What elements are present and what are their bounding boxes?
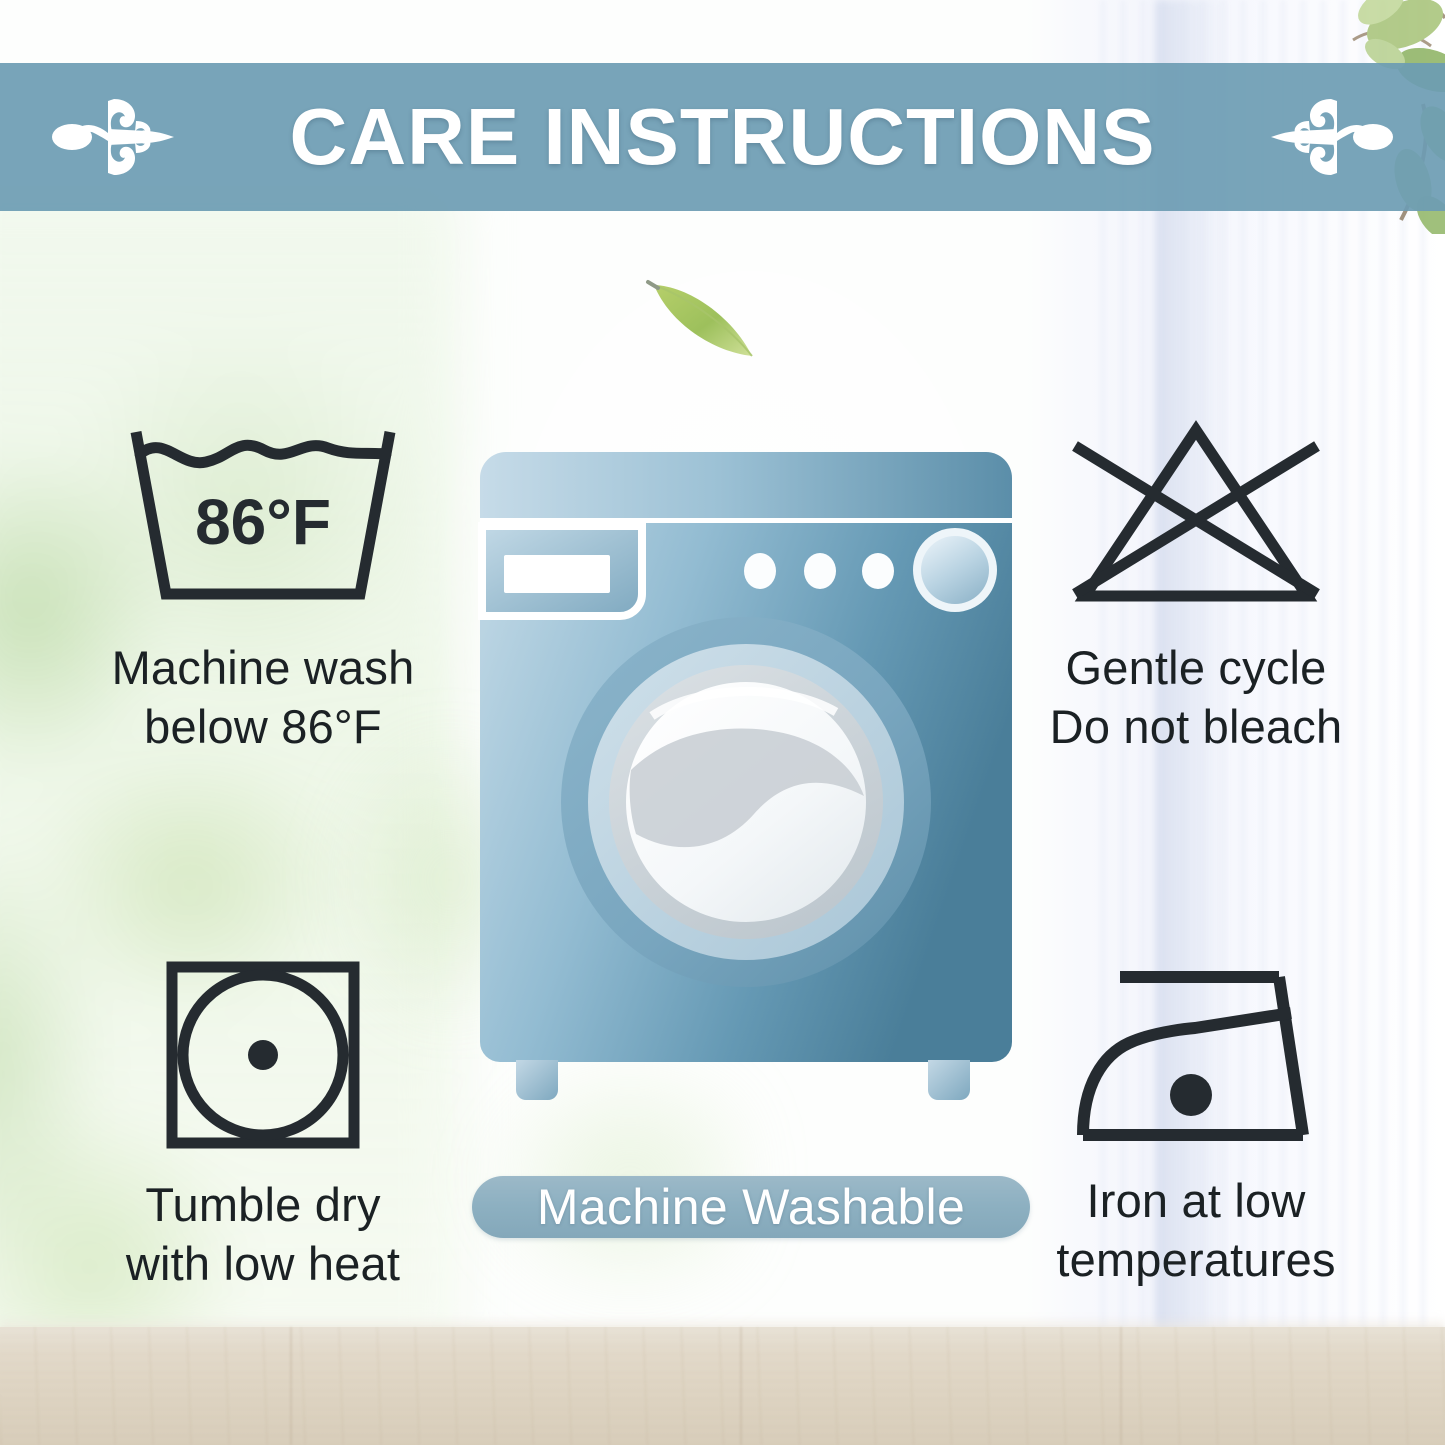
care-item-tumble-dry: Tumble dry with low heat [28,955,498,1293]
badge-label: Machine Washable [537,1178,965,1236]
iron-caption: Iron at low temperatures [1056,1171,1335,1289]
indicator-light [744,553,776,589]
tumble-dry-caption: Tumble dry with low heat [126,1175,400,1293]
indicator-light [862,553,894,589]
caption-line: Iron at low [1056,1171,1335,1230]
page-title: CARE INSTRUCTIONS [0,63,1445,211]
indicator-lights [744,553,894,589]
do-not-bleach-caption: Gentle cycle Do not bleach [1050,638,1343,756]
caption-line: Gentle cycle [1050,638,1343,697]
detergent-drawer [482,526,642,616]
machine-washable-badge: Machine Washable [472,1176,1030,1238]
caption-line: Tumble dry [126,1175,400,1234]
care-instructions-infographic: CARE INSTRUCTIONS [0,0,1445,1445]
fleur-de-lis-ornament-icon [1263,87,1393,187]
machine-wash-caption: Machine wash below 86°F [112,638,415,756]
caption-line: below 86°F [112,697,415,756]
machine-wash-tub-icon: 86°F [118,416,408,616]
care-item-iron: Iron at low temperatures [961,955,1431,1289]
wash-temperature-label: 86°F [195,486,331,558]
banner: CARE INSTRUCTIONS [0,63,1445,211]
tumble-dry-low-icon [158,955,368,1155]
washing-machine-illustration [466,430,1026,1130]
washer-top-panel [480,452,1012,523]
caption-line: with low heat [126,1234,400,1293]
caption-line: Machine wash [112,638,415,697]
wood-plank-seam [1120,1327,1122,1445]
washer-drum-door [561,617,931,987]
floating-leaf-icon [640,272,770,372]
care-item-machine-wash: 86°F Machine wash below 86°F [28,416,498,756]
wood-plank-seam [740,1327,742,1445]
do-not-bleach-triangle-icon [1051,416,1341,616]
caption-line: Do not bleach [1050,697,1343,756]
care-item-do-not-bleach: Gentle cycle Do not bleach [961,416,1431,756]
washer-feet [516,1060,970,1100]
wood-grain-texture [0,1327,1445,1445]
iron-low-temperature-icon [1063,955,1329,1151]
wood-plank-seam [290,1327,292,1445]
indicator-light [804,553,836,589]
caption-line: temperatures [1056,1230,1335,1289]
control-knob [913,528,997,612]
